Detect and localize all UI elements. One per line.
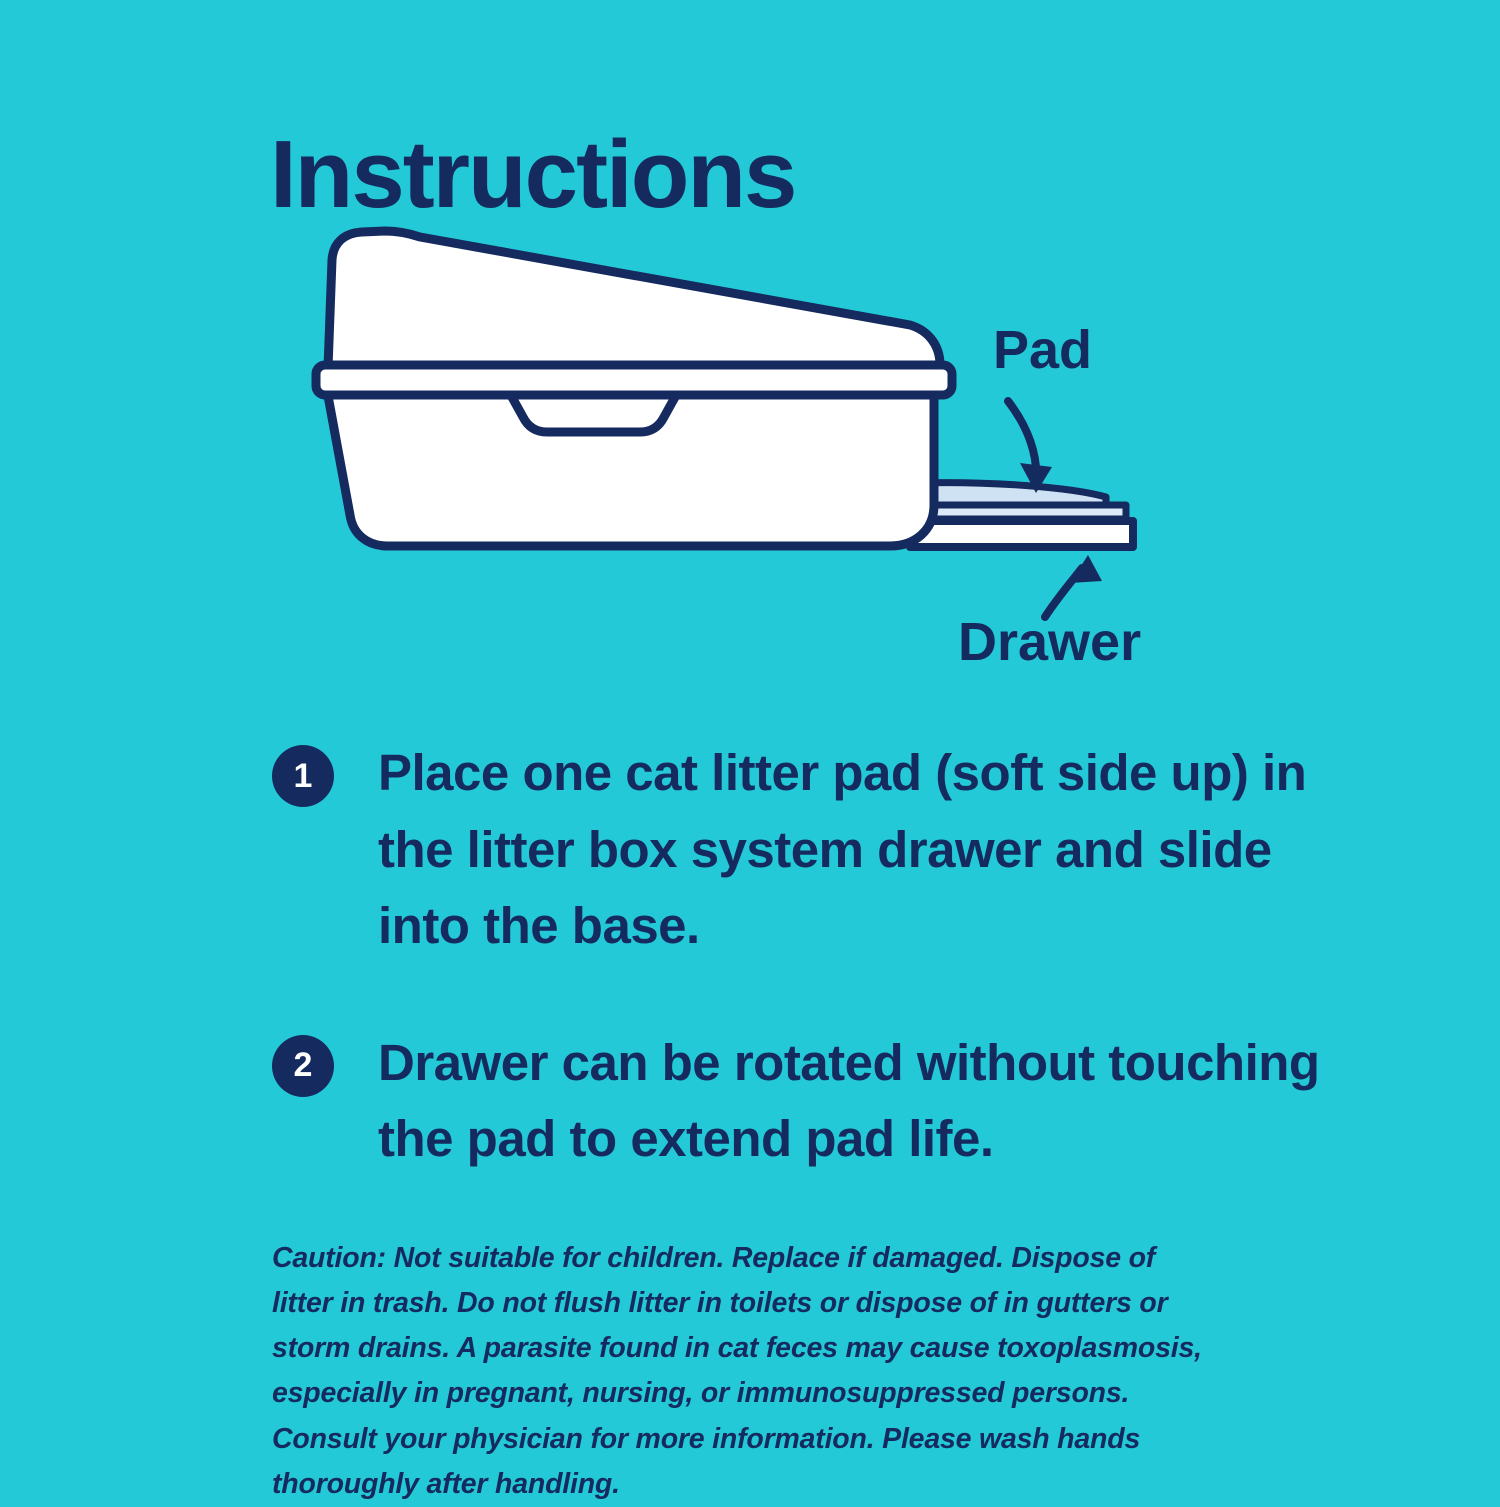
caution-text: Caution: Not suitable for children. Repl… xyxy=(272,1236,1222,1507)
rim-band xyxy=(316,365,952,395)
drawer-arrow-head xyxy=(1070,555,1102,583)
base-body xyxy=(326,385,934,546)
step-text: Drawer can be rotated without touching t… xyxy=(378,1025,1322,1178)
litter-box-svg: Pad Drawer xyxy=(290,205,1210,695)
drawer-tray xyxy=(910,521,1133,547)
drawer-label: Drawer xyxy=(958,612,1141,672)
pad-label: Pad xyxy=(993,320,1092,380)
litter-box-diagram: Pad Drawer xyxy=(290,205,1210,695)
drawer-shape xyxy=(910,521,1133,547)
step-text: Place one cat litter pad (soft side up) … xyxy=(378,735,1318,965)
pad-shape xyxy=(916,483,1126,519)
instructions-page: Instructions Pad D xyxy=(0,0,1500,1500)
step-number-badge: 2 xyxy=(272,1035,334,1097)
step-number-badge: 1 xyxy=(272,745,334,807)
hood-body xyxy=(328,231,940,368)
step-item: 2 Drawer can be rotated without touching… xyxy=(272,1025,1322,1178)
step-item: 1 Place one cat litter pad (soft side up… xyxy=(272,735,1322,965)
steps-list: 1 Place one cat litter pad (soft side up… xyxy=(272,735,1322,1178)
pad-edge xyxy=(916,505,1126,519)
